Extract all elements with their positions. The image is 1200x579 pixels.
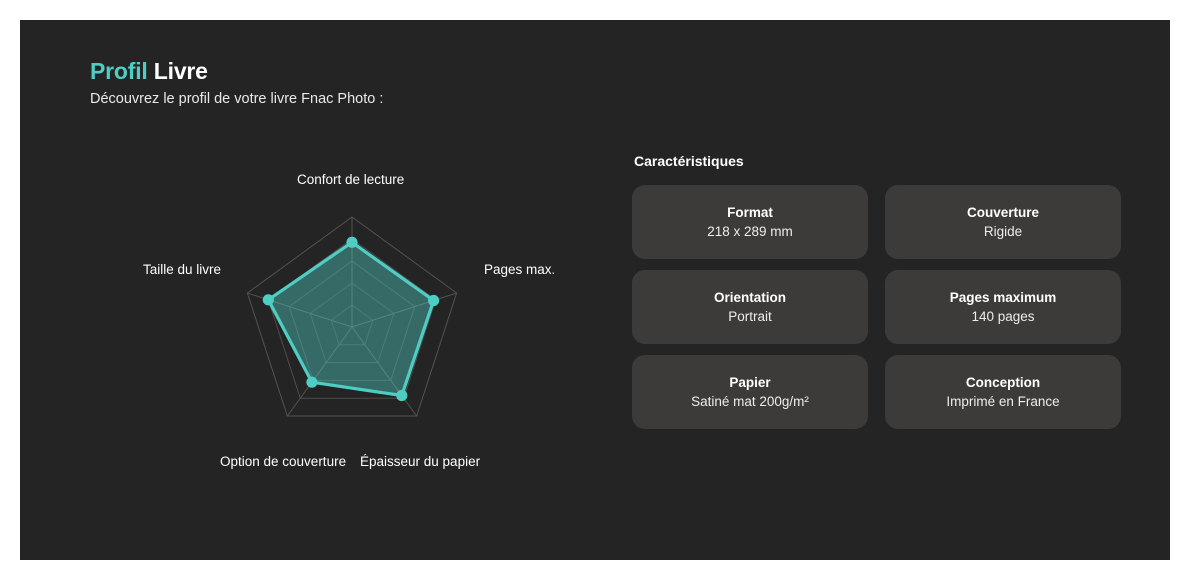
axis-label-taille-du-livre: Taille du livre bbox=[143, 262, 221, 278]
spec-card-label: Format bbox=[727, 203, 773, 222]
spec-card-label: Orientation bbox=[714, 288, 786, 307]
spec-card-label: Papier bbox=[729, 373, 770, 392]
radar-data-point[interactable] bbox=[346, 237, 357, 248]
screenshot-root: Profil Livre Découvrez le profil de votr… bbox=[0, 0, 1200, 579]
spec-card-value: Satiné mat 200g/m² bbox=[691, 392, 809, 412]
spec-card: CouvertureRigide bbox=[885, 185, 1121, 259]
spec-card: ConceptionImprimé en France bbox=[885, 355, 1121, 429]
spec-card-value: 218 x 289 mm bbox=[707, 222, 793, 242]
axis-label-option-de-couverture: Option de couverture bbox=[220, 454, 346, 470]
page-header: Profil Livre Découvrez le profil de votr… bbox=[90, 57, 383, 109]
page-title-main: Livre bbox=[154, 58, 208, 84]
radar-data-point[interactable] bbox=[428, 295, 439, 306]
spec-card-value: Rigide bbox=[984, 222, 1022, 242]
profile-panel: Profil Livre Découvrez le profil de votr… bbox=[20, 20, 1170, 560]
axis-label-confort-de-lecture: Confort de lecture bbox=[297, 172, 404, 188]
spec-card-value: Portrait bbox=[728, 307, 772, 327]
axis-label-pages-max: Pages max. bbox=[484, 262, 555, 278]
spec-card-value: 140 pages bbox=[971, 307, 1034, 327]
radar-data-point[interactable] bbox=[263, 294, 274, 305]
spec-card-label: Couverture bbox=[967, 203, 1039, 222]
characteristics-section: Caractéristiques Format218 x 289 mmCouve… bbox=[632, 152, 1122, 429]
characteristics-grid: Format218 x 289 mmCouvertureRigideOrient… bbox=[632, 185, 1122, 429]
radar-data-point[interactable] bbox=[396, 390, 407, 401]
radar-data-point[interactable] bbox=[306, 377, 317, 388]
radar-data-area bbox=[268, 242, 433, 395]
spec-card: PapierSatiné mat 200g/m² bbox=[632, 355, 868, 429]
page-subtitle: Découvrez le profil de votre livre Fnac … bbox=[90, 90, 383, 109]
spec-card-label: Conception bbox=[966, 373, 1040, 392]
characteristics-heading: Caractéristiques bbox=[634, 152, 1122, 170]
radar-chart: Confort de lecture Pages max. Épaisseur … bbox=[72, 148, 632, 498]
spec-card: Format218 x 289 mm bbox=[632, 185, 868, 259]
radar-chart-svg bbox=[72, 148, 632, 498]
spec-card: Pages maximum140 pages bbox=[885, 270, 1121, 344]
page-title-accent: Profil bbox=[90, 58, 148, 84]
spec-card-label: Pages maximum bbox=[950, 288, 1057, 307]
page-title: Profil Livre bbox=[90, 57, 383, 85]
spec-card: OrientationPortrait bbox=[632, 270, 868, 344]
axis-label-epaisseur-du-papier: Épaisseur du papier bbox=[360, 454, 480, 470]
spec-card-value: Imprimé en France bbox=[946, 392, 1059, 412]
